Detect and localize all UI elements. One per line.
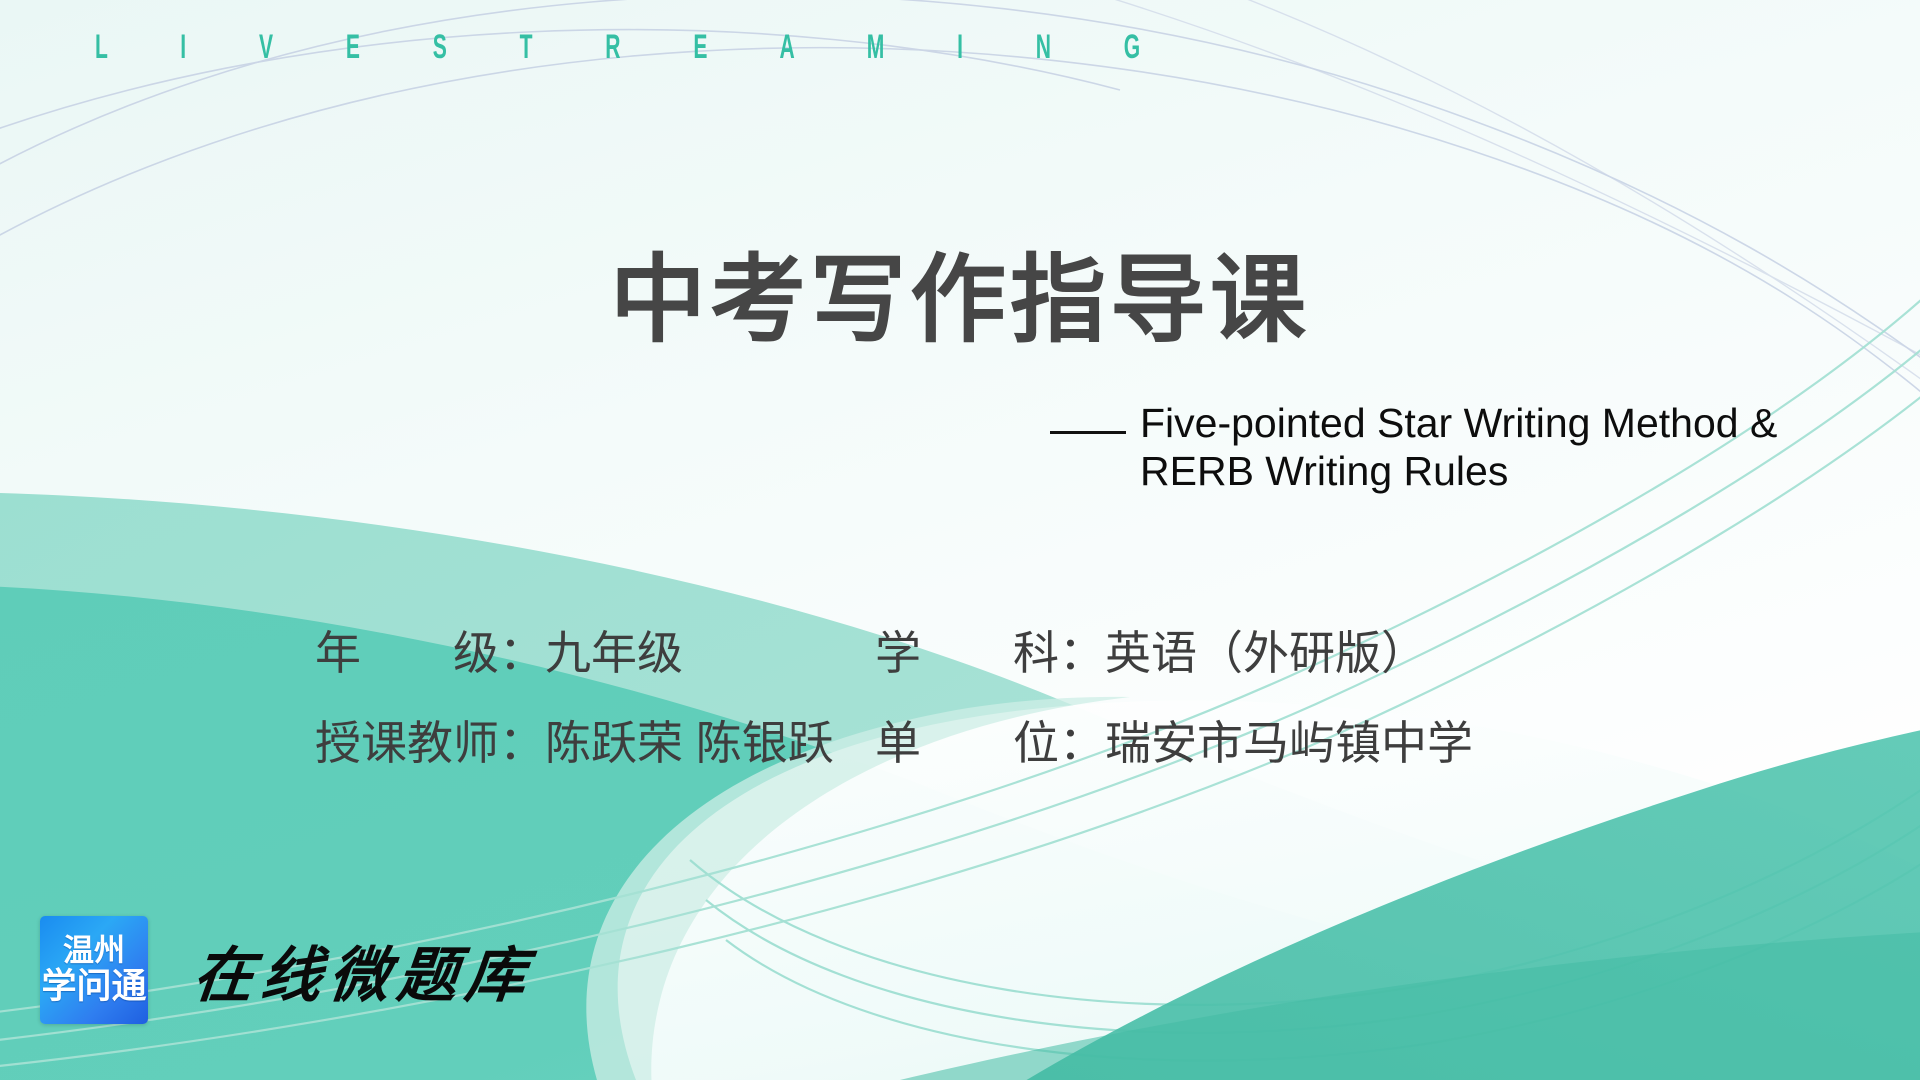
brand-lockup: 温州 学问通 在线微题库 xyxy=(40,916,534,1024)
teacher-label: 授课教师： xyxy=(315,717,545,769)
em-dash-rule xyxy=(1050,431,1126,434)
slide-canvas: L I V E S T R E A M I N G 中考写作指导课 Five-p… xyxy=(0,0,1920,1080)
course-meta: 年 级：九年级 学 科：英语（外研版） 授课教师：陈跃荣 陈银跃 单 位：瑞安市… xyxy=(315,630,1715,766)
subtitle-line-1: Five-pointed Star Writing Method & xyxy=(1140,400,1920,448)
meta-row: 授课教师：陈跃荣 陈银跃 单 位：瑞安市马屿镇中学 xyxy=(315,720,1715,766)
school-value: 瑞安市马屿镇中学 xyxy=(1105,717,1473,769)
meta-row: 年 级：九年级 学 科：英语（外研版） xyxy=(315,630,1715,676)
subtitle-text: Five-pointed Star Writing Method & RERB … xyxy=(1140,400,1920,496)
subject-label: 学 科： xyxy=(875,627,1105,679)
grade-value: 九年级 xyxy=(545,627,683,679)
logo-line-1: 温州 xyxy=(63,934,125,967)
meta-cell-school: 单 位：瑞安市马屿镇中学 xyxy=(875,720,1473,766)
school-label: 单 位： xyxy=(875,717,1105,769)
meta-cell-grade: 年 级：九年级 xyxy=(315,630,875,676)
subject-value: 英语（外研版） xyxy=(1105,627,1427,679)
live-streaming-eyebrow: L I V E S T R E A M I N G xyxy=(95,28,1186,67)
meta-cell-teacher: 授课教师：陈跃荣 陈银跃 xyxy=(315,720,875,766)
logo-line-2: 学问通 xyxy=(41,968,146,1006)
brand-wordmark: 在线微题库 xyxy=(189,927,538,1014)
subtitle-block: Five-pointed Star Writing Method & RERB … xyxy=(1050,400,1920,496)
page-title: 中考写作指导课 xyxy=(0,250,1310,352)
teacher-value: 陈跃荣 陈银跃 xyxy=(545,717,834,769)
subtitle-line-2: RERB Writing Rules xyxy=(1140,448,1920,496)
grade-label: 年 级： xyxy=(315,627,545,679)
wenzhou-xuewentong-logo-icon[interactable]: 温州 学问通 xyxy=(40,916,148,1024)
meta-cell-subject: 学 科：英语（外研版） xyxy=(875,630,1427,676)
